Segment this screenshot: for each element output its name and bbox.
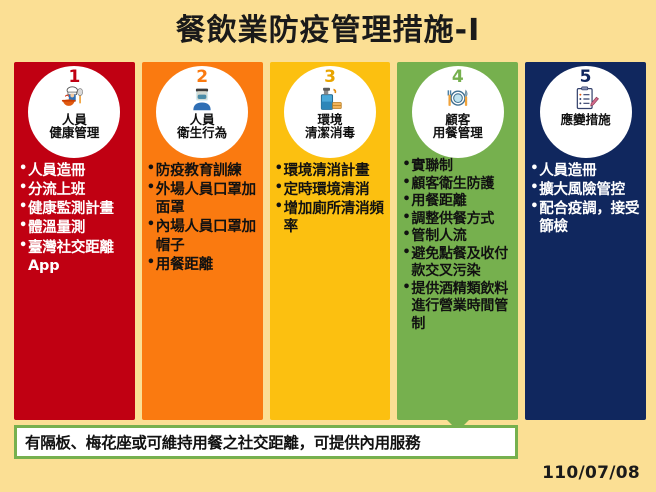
badge-1: 1 人員 健康管理 — [28, 66, 120, 158]
badge-label-line1: 人員 — [62, 113, 87, 126]
clipboard-checklist-pencil-icon — [572, 86, 600, 112]
bullet-list-2: 防疫教育訓練 外場人員口罩加面罩 內場人員口罩加帽子 用餐距離 — [142, 162, 263, 275]
page-title: 餐飲業防疫管理措施-I — [176, 16, 481, 46]
plate-fork-knife-icon — [444, 86, 472, 112]
badge-number: 5 — [580, 69, 592, 86]
list-item: 人員造冊 — [530, 162, 642, 180]
bullet-list-3: 環境清消計畫 定時環境清消 增加廁所清消頻率 — [270, 162, 391, 238]
list-item: 配合疫調，接受篩檢 — [530, 200, 642, 236]
badge-5: 5 應變措施 — [540, 66, 632, 158]
list-item: 人員造冊 — [19, 162, 131, 180]
bullet-list-4: 實聯制 顧客衛生防護 用餐距離 調整供餐方式 管制人流 避免點餐及收付款交叉污染… — [397, 158, 518, 333]
measure-columns: 1 人員 健康管理 人員造冊 分流上班 健康監測計畫 — [14, 62, 646, 420]
list-item: 管制人流 — [402, 228, 514, 246]
list-item: 擴大風險管控 — [530, 181, 642, 199]
poster-date: 110/07/08 — [542, 463, 640, 483]
chef-cooking-icon — [60, 86, 88, 112]
column-environment-cleaning: 3 環境 清潔消毒 環境清消計畫 定時環境清消 增加廁所清消頻率 — [270, 62, 391, 420]
badge-number: 3 — [324, 69, 336, 86]
infographic-poster: 餐飲業防疫管理措施-I 1 人員 健康管理 — [0, 0, 656, 492]
list-item: 臺灣社交距離App — [19, 239, 131, 275]
badge-number: 2 — [196, 69, 208, 86]
person-face-shield-icon — [188, 86, 216, 112]
list-item: 增加廁所清消頻率 — [275, 200, 387, 236]
list-item: 定時環境清消 — [275, 181, 387, 199]
badge-label-line1: 應變措施 — [561, 113, 611, 126]
list-item: 環境清消計畫 — [275, 162, 387, 180]
bullet-list-1: 人員造冊 分流上班 健康監測計畫 體溫量測 臺灣社交距離App — [14, 162, 135, 276]
column-personnel-health: 1 人員 健康管理 人員造冊 分流上班 健康監測計畫 — [14, 62, 135, 420]
badge-4: 4 顧客 用餐管理 — [412, 66, 504, 158]
badge-label-line2: 健康管理 — [49, 126, 99, 139]
badge-label-line1: 顧客 — [445, 113, 470, 126]
list-item: 用餐距離 — [402, 193, 514, 211]
list-item: 避免點餐及收付款交叉污染 — [402, 246, 514, 281]
list-item: 調整供餐方式 — [402, 211, 514, 229]
badge-label-line1: 人員 — [190, 113, 215, 126]
badge-number: 1 — [68, 69, 80, 86]
poster-title-bar: 餐飲業防疫管理措施-I — [0, 8, 656, 54]
list-item: 實聯制 — [402, 158, 514, 176]
list-item: 分流上班 — [19, 181, 131, 199]
badge-label-line2: 用餐管理 — [433, 126, 483, 139]
list-item: 內場人員口罩加帽子 — [147, 218, 259, 254]
list-item: 健康監測計畫 — [19, 200, 131, 218]
cleaning-spray-bucket-icon — [316, 86, 344, 112]
badge-number: 4 — [452, 69, 464, 86]
list-item: 提供酒精類飲料進行營業時間管制 — [402, 281, 514, 334]
badge-label-line1: 環境 — [317, 113, 342, 126]
list-item: 顧客衛生防護 — [402, 176, 514, 194]
bottom-note-banner: 有隔板、梅花座或可維持用餐之社交距離，可提供內用服務 — [14, 425, 518, 459]
list-item: 體溫量測 — [19, 219, 131, 237]
column-personnel-hygiene: 2 人員 衛生行為 防疫教育訓練 外場人員口罩加面罩 內場人員口罩加帽子 用餐距… — [142, 62, 263, 420]
bottom-note-text: 有隔板、梅花座或可維持用餐之社交距離，可提供內用服務 — [25, 431, 420, 453]
column-customer-dining: 4 顧客 用餐管理 實聯制 顧客衛生防護 用餐距離 調整供餐方式 管制 — [397, 62, 518, 420]
badge-2: 2 人員 衛生行為 — [156, 66, 248, 158]
list-item: 防疫教育訓練 — [147, 162, 259, 180]
badge-3: 3 環境 清潔消毒 — [284, 66, 376, 158]
badge-label-line2: 衛生行為 — [177, 126, 227, 139]
column-contingency-measures: 5 應變措施 人員造冊 擴大風險管控 配合疫調，接受篩檢 — [525, 62, 646, 420]
bullet-list-5: 人員造冊 擴大風險管控 配合疫調，接受篩檢 — [525, 162, 646, 238]
list-item: 用餐距離 — [147, 256, 259, 274]
list-item: 外場人員口罩加面罩 — [147, 181, 259, 217]
badge-label-line2: 清潔消毒 — [305, 126, 355, 139]
